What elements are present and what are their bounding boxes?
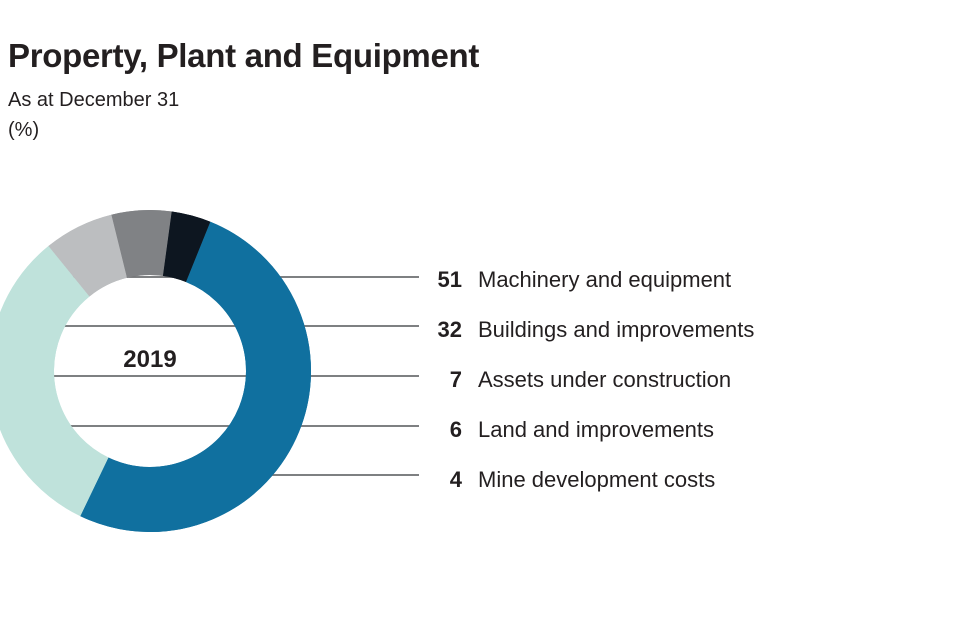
legend-value: 4 — [400, 467, 462, 493]
chart-unit-label: (%) — [8, 116, 808, 144]
legend-label: Assets under construction — [462, 367, 731, 393]
chart-legend: 51 Machinery and equipment 32 Buildings … — [400, 255, 970, 505]
chart-container: Property, Plant and Equipment As at Dece… — [0, 0, 976, 633]
legend-item-assets-under-construction[interactable]: 7 Assets under construction — [400, 355, 970, 405]
legend-value: 6 — [400, 417, 462, 443]
chart-subtitle: As at December 31 — [8, 86, 808, 114]
legend-value: 7 — [400, 367, 462, 393]
legend-item-mine-development-costs[interactable]: 4 Mine development costs — [400, 455, 970, 505]
legend-item-land-and-improvements[interactable]: 6 Land and improvements — [400, 405, 970, 455]
legend-label: Land and improvements — [462, 417, 714, 443]
ring-overdraw-guard — [0, 204, 317, 539]
legend-label: Mine development costs — [462, 467, 715, 493]
chart-header: Property, Plant and Equipment As at Dece… — [8, 36, 808, 144]
page-title: Property, Plant and Equipment — [8, 36, 808, 76]
legend-label: Machinery and equipment — [462, 267, 731, 293]
legend-label: Buildings and improvements — [462, 317, 754, 343]
legend-value: 32 — [400, 317, 462, 343]
legend-item-machinery-and-equipment[interactable]: 51 Machinery and equipment — [400, 255, 970, 305]
legend-item-buildings-and-improvements[interactable]: 32 Buildings and improvements — [400, 305, 970, 355]
legend-value: 51 — [400, 267, 462, 293]
plot-area: 2019 51 Machinery and equipment 32 Build… — [0, 180, 976, 580]
